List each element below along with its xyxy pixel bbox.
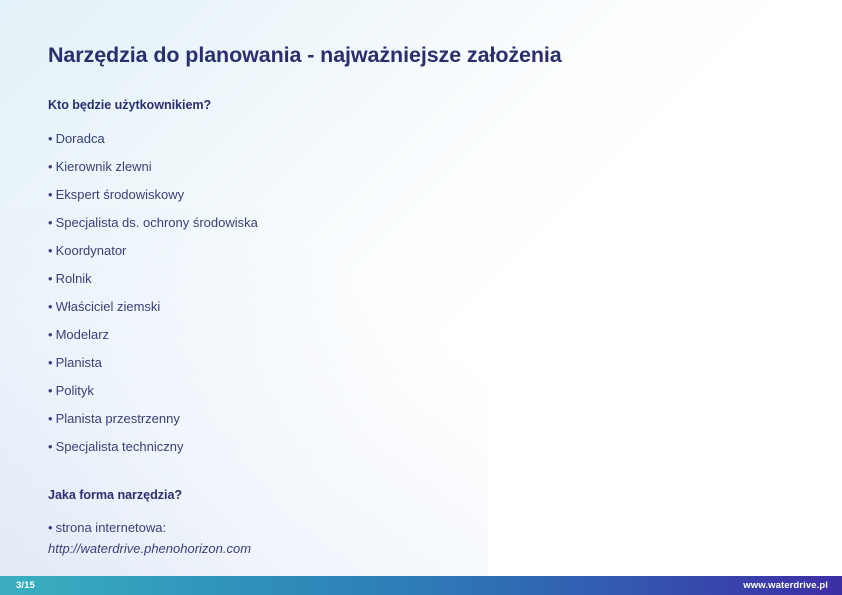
bullet-icon: • [48, 160, 53, 173]
page-title: Narzędzia do planowania - najważniejsze … [48, 0, 794, 69]
bullet-icon: • [48, 440, 53, 453]
bullet-icon: • [48, 272, 53, 285]
list-item-label: Specjalista techniczny [56, 439, 184, 454]
list-item-label: Właściciel ziemski [56, 299, 161, 314]
list-item-label: Koordynator [56, 243, 127, 258]
bullet-icon: • [48, 384, 53, 397]
bullet-icon: • [48, 328, 53, 341]
form-bullet-list: •strona internetowa: [48, 517, 794, 538]
bullet-icon: • [48, 356, 53, 369]
list-item-label: Doradca [56, 131, 105, 146]
list-item: •Specjalista techniczny [48, 440, 794, 468]
list-item-label: Ekspert środowiskowy [56, 187, 185, 202]
bullet-icon: • [48, 188, 53, 201]
list-item: •Modelarz [48, 328, 794, 356]
list-item-label: Polityk [56, 383, 94, 398]
list-item-label: Rolnik [56, 271, 92, 286]
list-item-label: Planista przestrzenny [56, 411, 180, 426]
bullet-icon: • [48, 517, 53, 538]
slide: Narzędzia do planowania - najważniejsze … [0, 0, 842, 595]
section-heading-form: Jaka forma narzędzia? [48, 488, 794, 502]
list-item: •Ekspert środowiskowy [48, 188, 794, 216]
bullet-icon: • [48, 132, 53, 145]
footer-bar: 3/15 www.waterdrive.pl [0, 576, 842, 595]
list-item-label: Kierownik zlewni [56, 159, 152, 174]
list-item: •Doradca [48, 132, 794, 160]
section-heading-users: Kto będzie użytkownikiem? [48, 98, 794, 112]
slide-content: Narzędzia do planowania - najważniejsze … [0, 0, 842, 559]
list-item: •Rolnik [48, 272, 794, 300]
list-item: •Planista przestrzenny [48, 412, 794, 440]
list-item-label: Specjalista ds. ochrony środowiska [56, 215, 258, 230]
list-item: •Polityk [48, 384, 794, 412]
list-item: •Właściciel ziemski [48, 300, 794, 328]
list-item-label: Planista [56, 355, 102, 370]
footer-website-label: www.waterdrive.pl [743, 581, 828, 591]
bullet-icon: • [48, 412, 53, 425]
website-url[interactable]: http://waterdrive.phenohorizon.com [48, 538, 794, 559]
list-item: •Kierownik zlewni [48, 160, 794, 188]
list-item: •Specjalista ds. ochrony środowiska [48, 216, 794, 244]
list-item: •strona internetowa: [48, 517, 794, 538]
list-item-label: strona internetowa: [56, 520, 167, 535]
bullet-icon: • [48, 300, 53, 313]
users-bullet-list: •Doradca •Kierownik zlewni •Ekspert środ… [48, 132, 794, 468]
list-item: •Koordynator [48, 244, 794, 272]
list-item-label: Modelarz [56, 327, 109, 342]
bullet-icon: • [48, 244, 53, 257]
list-item: •Planista [48, 356, 794, 384]
page-number: 3/15 [16, 581, 35, 591]
bullet-icon: • [48, 216, 53, 229]
